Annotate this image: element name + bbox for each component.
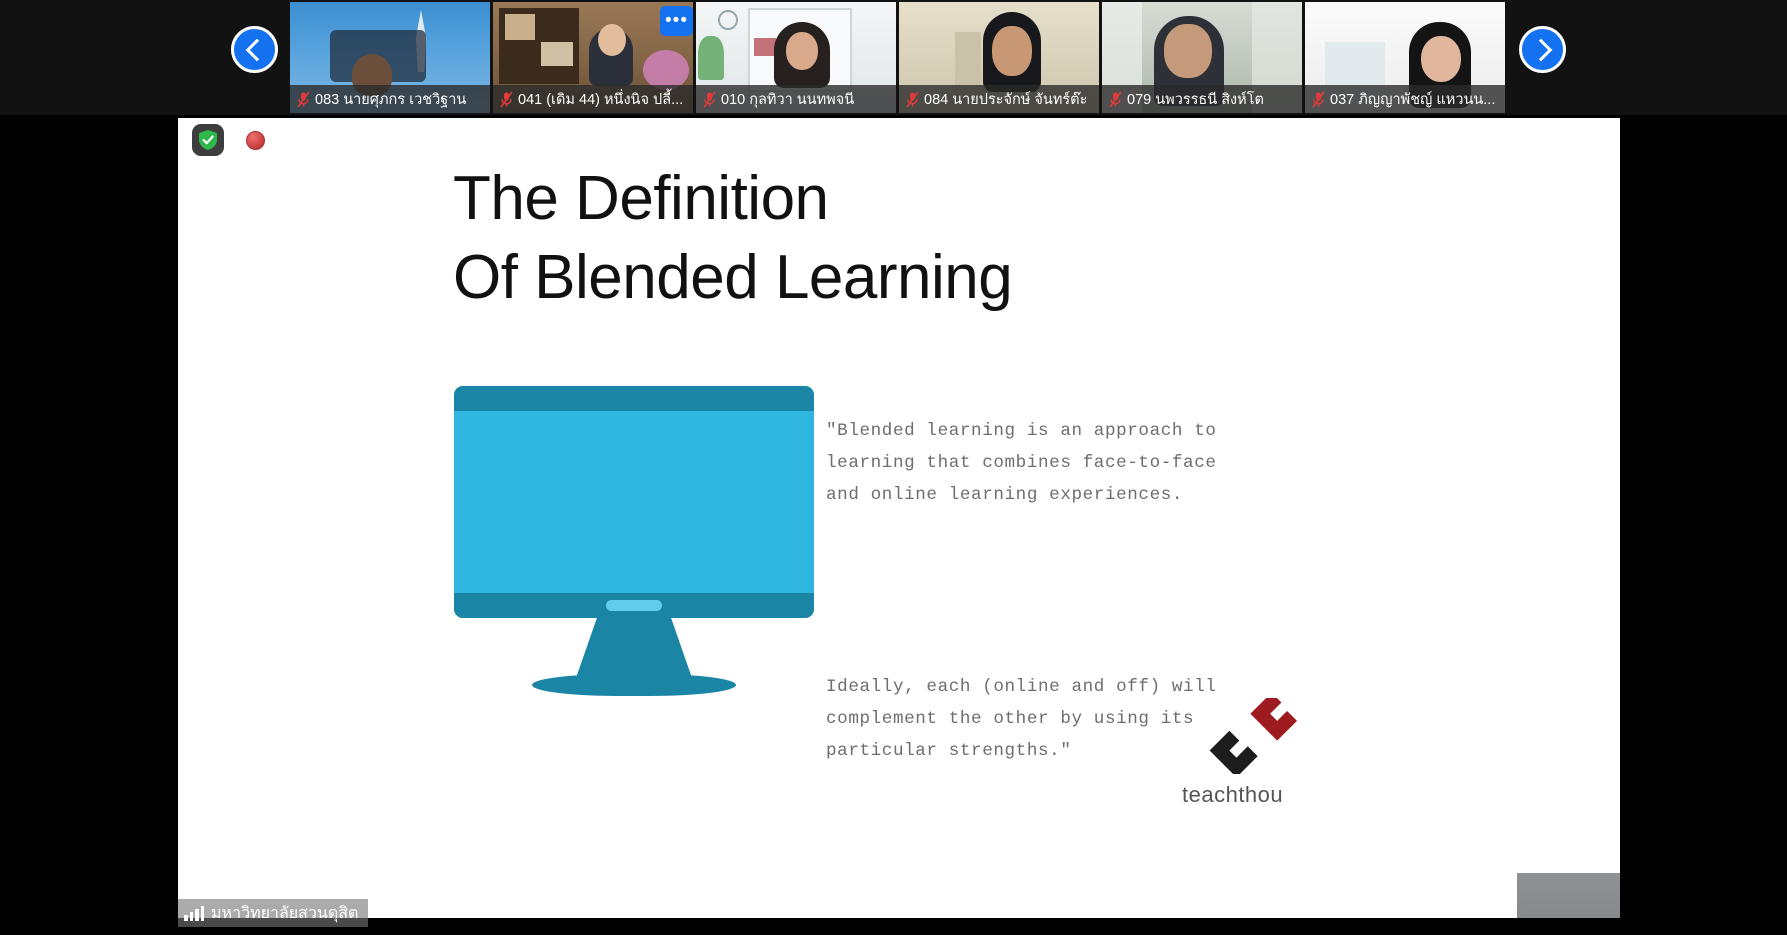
teachthought-mark-icon [1206,698,1302,774]
monitor-stand [576,618,692,678]
zoom-meeting-window: 083 นายศุภกร เวชวิฐาน 041 (เดิม 44) หน [0,0,1787,935]
monitor-power-button [606,600,662,611]
participant-filmstrip: 083 นายศุภกร เวชวิฐาน 041 (เดิม 44) หน [0,0,1787,115]
monitor-top-bezel [454,386,814,411]
signal-bars-icon [184,905,204,921]
computer-monitor-icon [454,386,814,706]
shared-screen-stage: The Definition Of Blended Learning "Blen… [178,118,1620,918]
participant-name: 010 กุลทิวา นนทพจนี [721,88,854,111]
participant-name-bar: 083 นายศุภกร เวชวิฐาน [290,85,490,113]
active-speaker-pip[interactable] [1500,870,1620,918]
chevron-right-icon [1529,38,1552,61]
mic-off-icon [297,91,310,108]
participant-name-bar: 041 (เดิม 44) หนึ่งนิจ ปลี้... [493,85,693,113]
teachthought-wordmark: teachthou [1182,782,1283,808]
quote-paragraph-1: "Blended learning is an approach to lear… [826,415,1326,511]
participant-name: 083 นายศุภกร เวชวิฐาน [315,88,466,111]
chevron-left-icon [245,38,268,61]
mic-off-icon [500,91,513,108]
mic-off-icon [1312,91,1325,108]
speaker-video-feed [1503,873,1620,918]
screenshare-toolbar [192,124,265,156]
security-shield-button[interactable] [192,124,224,156]
next-participants-button[interactable] [1519,26,1566,73]
page-title: The Definition Of Blended Learning [453,160,1012,317]
participant-name: 079 นพวรรธนี สิงห์โต [1127,88,1264,111]
participant-name-bar: 079 นพวรรธนี สิงห์โต [1102,85,1302,113]
monitor-screen [454,386,814,618]
participant-name-bar: 037 ภิญญาพัชญ์ แหวนน... [1305,85,1505,113]
mic-off-icon [703,91,716,108]
presentation-slide: The Definition Of Blended Learning "Blen… [178,118,1620,918]
participant-name: 041 (เดิม 44) หนึ่งนิจ ปลี้... [518,88,683,111]
more-options-label: ••• [665,17,688,25]
more-options-button[interactable]: ••• [660,6,693,36]
mic-off-icon [906,91,919,108]
participant-thumbnail[interactable]: 083 นายศุภกร เวชวิฐาน [290,2,490,113]
participant-thumbnail[interactable]: 037 ภิญญาพัชญ์ แหวนน... [1305,2,1505,113]
participant-thumbnail[interactable]: 084 นายประจักษ์ จันทร์ต๊ะ [899,2,1099,113]
recording-indicator-icon[interactable] [246,131,265,150]
participant-name: 084 นายประจักษ์ จันทร์ต๊ะ [924,88,1087,111]
slide-title-line-2: Of Blended Learning [453,239,1012,318]
watermark-text: มหาวิทยาลัยสวนดุสิต [211,901,358,926]
participant-name-bar: 084 นายประจักษ์ จันทร์ต๊ะ [899,85,1099,113]
shield-check-icon [198,129,218,151]
previous-participants-button[interactable] [231,26,278,73]
participant-name-bar: 010 กุลทิวา นนทพจนี [696,85,896,113]
participant-thumbnail[interactable]: 010 กุลทิวา นนทพจนี [696,2,896,113]
participant-thumbnail[interactable]: 079 นพวรรธนี สิงห์โต [1102,2,1302,113]
teachthought-logo: teachthou [1188,698,1338,818]
participant-thumbnails: 083 นายศุภกร เวชวิฐาน 041 (เดิม 44) หน [290,2,1505,113]
mic-off-icon [1109,91,1122,108]
participant-name: 037 ภิญญาพัชญ์ แหวนน... [1330,88,1495,111]
institution-watermark: มหาวิทยาลัยสวนดุสิต [178,899,368,927]
slide-title-line-1: The Definition [453,160,1012,239]
